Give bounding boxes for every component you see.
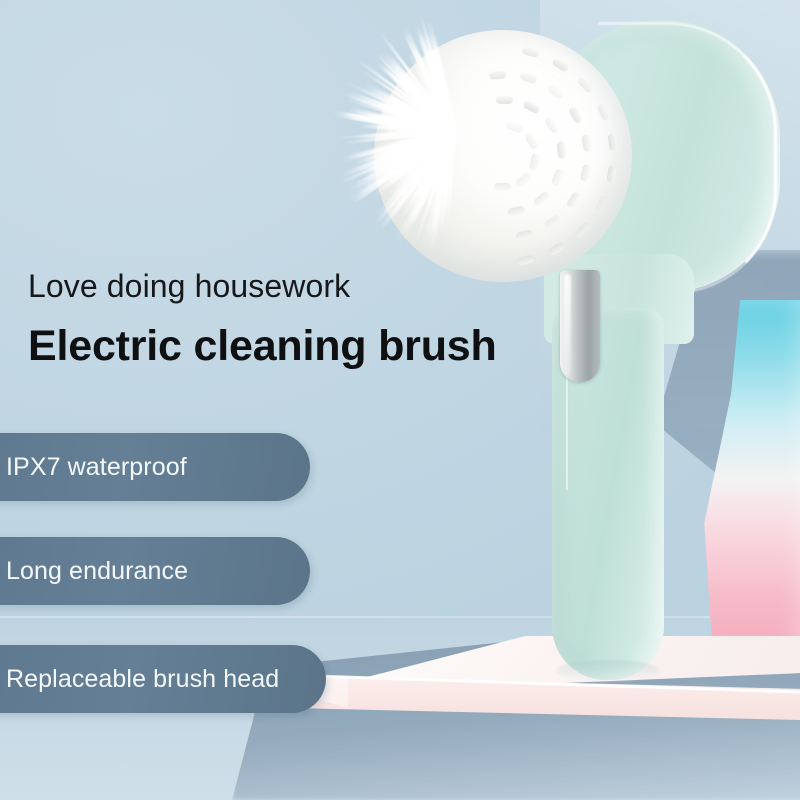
feature-pill-endurance[interactable]: Long endurance bbox=[0, 537, 310, 605]
feature-pill-label: Long endurance bbox=[6, 557, 188, 586]
product-banner: Love doing housework Electric cleaning b… bbox=[0, 0, 800, 800]
feature-pill-label: IPX7 waterproof bbox=[6, 453, 187, 482]
feature-pill-waterproof[interactable]: IPX7 waterproof bbox=[0, 433, 310, 501]
brush-bristle-fringe bbox=[328, 8, 538, 260]
feature-pill-label: Replaceable brush head bbox=[6, 665, 279, 694]
banner-headline: Electric cleaning brush bbox=[28, 322, 497, 371]
feature-pill-replaceable-head[interactable]: Replaceable brush head bbox=[0, 645, 326, 713]
metal-strip-highlight bbox=[564, 274, 571, 376]
handle-base-contact bbox=[556, 660, 660, 682]
banner-subtitle: Love doing housework bbox=[28, 268, 350, 305]
